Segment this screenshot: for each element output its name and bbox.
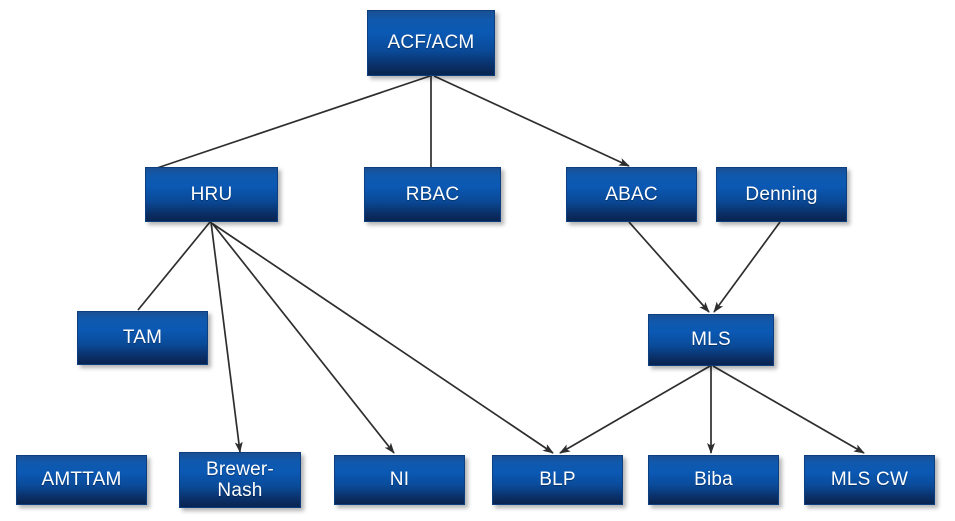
node-ni[interactable]: NI: [334, 455, 465, 505]
edge-mls-to-blp: [560, 366, 710, 453]
edge-abac-to-mls: [629, 222, 709, 312]
edges-group: [138, 76, 864, 453]
edge-acf_acm-to-abac: [434, 76, 629, 166]
node-mls[interactable]: MLS: [648, 314, 774, 366]
edge-acf_acm-to-hru: [157, 76, 430, 168]
node-rbac[interactable]: RBAC: [364, 167, 501, 222]
node-abac[interactable]: ABAC: [566, 167, 697, 222]
node-hru[interactable]: HRU: [145, 167, 278, 222]
node-biba[interactable]: Biba: [648, 455, 779, 505]
edge-hru-to-brewer: [211, 222, 240, 452]
node-denning[interactable]: Denning: [716, 167, 847, 222]
node-amttam[interactable]: AMTTAM: [16, 455, 147, 505]
edge-layer: [0, 0, 955, 521]
node-blp[interactable]: BLP: [492, 455, 623, 505]
edge-hru-to-blp: [213, 224, 553, 453]
edge-denning-to-mls: [714, 222, 780, 312]
node-mlscw[interactable]: MLS CW: [804, 455, 935, 505]
diagram-canvas: ACF/ACMHRURBACABACDenningTAMMLSAMTTAMBre…: [0, 0, 955, 521]
node-acf_acm[interactable]: ACF/ACM: [367, 10, 495, 76]
edge-hru-to-tam: [138, 222, 210, 310]
edge-mls-to-mlscw: [713, 366, 864, 453]
edge-hru-to-ni: [212, 223, 394, 453]
node-tam[interactable]: TAM: [77, 311, 208, 365]
node-brewer[interactable]: Brewer- Nash: [179, 452, 301, 508]
